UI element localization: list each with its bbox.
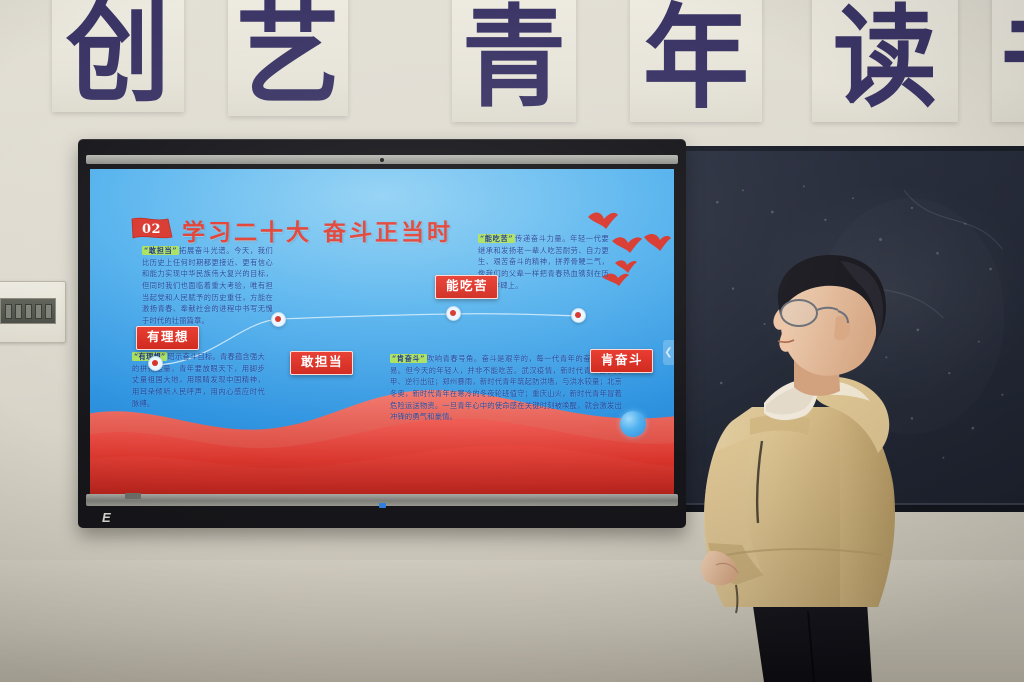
node-dot-core [152,360,158,366]
breaker-switch [5,304,12,319]
calligraphy-glyph: 艺 [236,0,340,110]
power-indicator-icon [379,503,386,508]
paragraph-body: 拓展奋斗光谱。今天，我们比历史上任何时期都更接近、更有信心和能力实现中华民族伟大… [142,246,273,325]
journey-label-chip[interactable]: 敢担当 [290,351,353,375]
wall-electrical-panel [0,281,66,343]
journey-label-chip[interactable]: 有理想 [136,326,199,350]
calligraphy-glyph: 青 [462,3,566,113]
breaker-switch [25,304,32,319]
journey-label-chip[interactable]: 肯奋斗 [590,349,653,373]
calligraphy-panel: 年 [630,0,762,122]
interactive-smart-board[interactable]: 02 学习二十大 奋斗正当时 “敢担当”拓展奋斗光谱。今天，我们比历史上任何 [78,139,686,528]
breaker-window [0,298,56,324]
node-dot-core [575,312,581,318]
journey-label-chip[interactable]: 能吃苦 [435,275,498,299]
node-dot-core [275,316,281,322]
calligraphy-glyph: 创 [66,0,170,108]
calligraphy-panel: 青 [452,0,576,122]
calligraphy-glyph: 年 [643,2,749,114]
board-brand-mark: E [102,512,124,524]
calligraphy-panel: 艺 [228,0,348,116]
classroom-scene: 创艺青年读书 [0,0,1024,682]
paragraph-dare-to-act: “敢担当”拓展奋斗光谱。今天，我们比历史上任何时期都更接近、更有信心和能力实现中… [142,245,273,327]
camera-sensor-icon [380,158,384,162]
breaker-switch [35,304,42,319]
chevron-left-icon[interactable]: ❮ [663,340,674,365]
node-dot-core [450,310,456,316]
calligraphy-panel: 读 [812,0,958,122]
wall-calligraphy-banners: 创艺青年读书 [0,0,1024,130]
board-port [125,493,141,499]
journey-node-dot[interactable] [571,308,586,323]
paragraph-keyword: “敢担当” [142,246,179,255]
slide-title: 学习二十大 奋斗正当时 [182,213,453,247]
paragraph-keyword: “能吃苦” [478,234,515,243]
paragraph-body: 吹响青春号角。奋斗是艰辛的，每一代青年的奋斗都不容易。但今天的年轻人，并非不能吃… [390,354,622,421]
calligraphy-panel: 书 [992,0,1024,122]
slide-number-flag: 02 [131,217,175,241]
student-standing [690,255,1024,682]
journey-node-dot[interactable] [271,312,286,327]
paragraph-willing-to-strive: “肯奋斗”吹响青春号角。奋斗是艰辛的，每一代青年的奋斗都不容易。但今天的年轻人，… [390,353,622,423]
calligraphy-glyph: 书 [1000,3,1024,113]
paragraph-keyword: “肯奋斗” [390,354,427,363]
journey-node-dot[interactable] [446,306,461,321]
calligraphy-panel: 创 [52,0,184,112]
calligraphy-glyph: 读 [833,3,937,113]
slide-number: 02 [131,217,175,241]
board-bottom-bezel [86,494,678,506]
presentation-slide[interactable]: 02 学习二十大 奋斗正当时 “敢担当”拓展奋斗光谱。今天，我们比历史上任何 [90,169,674,495]
journey-node-dot[interactable] [148,356,163,371]
breaker-switch [15,304,22,319]
breaker-switch [45,304,52,319]
